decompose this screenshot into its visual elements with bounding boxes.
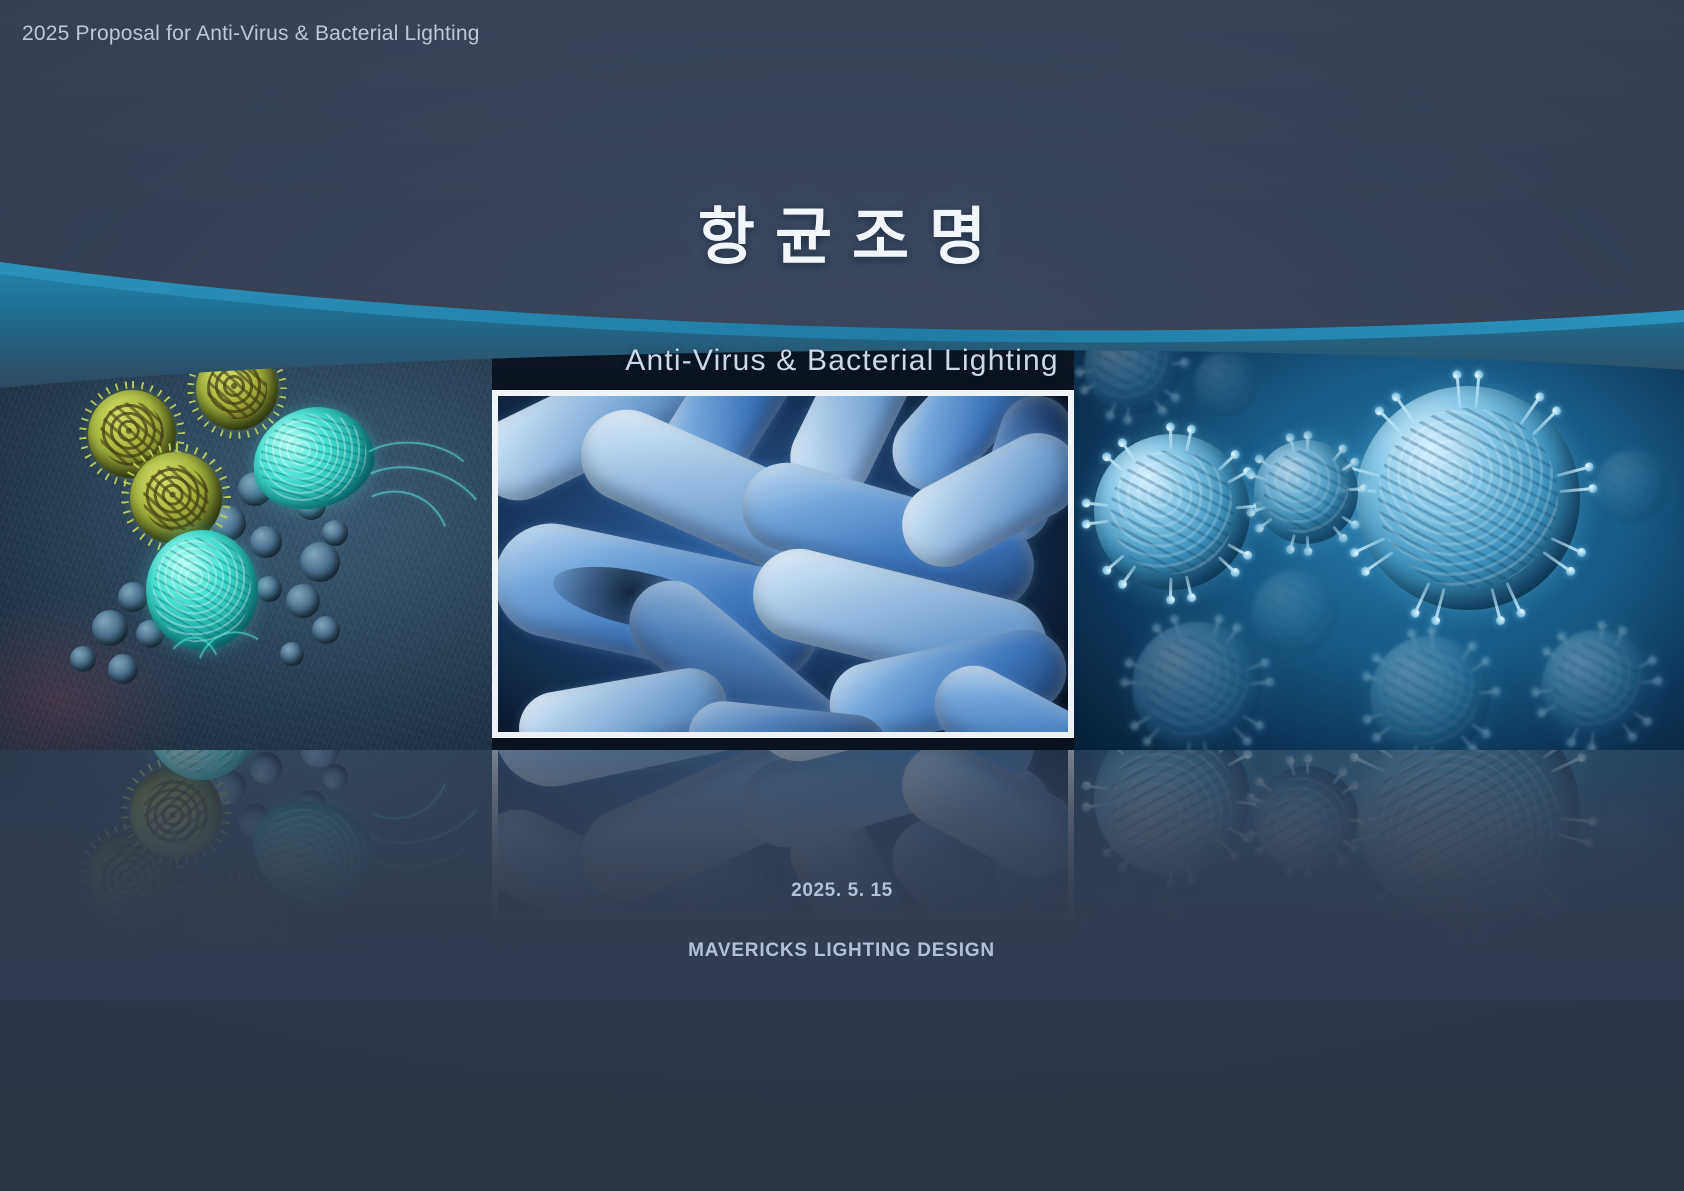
spike-proteins xyxy=(1094,434,1250,590)
virion-background xyxy=(1370,636,1490,750)
spike-protein xyxy=(1108,403,1117,417)
spike-protein xyxy=(1637,659,1653,669)
spike-protein xyxy=(1233,726,1249,742)
spike-protein xyxy=(1341,461,1356,472)
spike-protein xyxy=(1615,630,1625,646)
spike-proteins xyxy=(1132,622,1262,750)
bacterium-cyan xyxy=(146,750,258,780)
spike-protein xyxy=(1121,848,1137,869)
spike-protein xyxy=(1163,389,1177,400)
panel-macrophage-bacteria xyxy=(0,330,492,750)
spike-protein xyxy=(1343,817,1377,823)
spike-protein xyxy=(1078,369,1093,373)
header-proposal-title: 2025 Proposal for Anti-Virus & Bacterial… xyxy=(22,22,480,46)
spike-protein xyxy=(1105,750,1125,756)
spike-protein xyxy=(1250,829,1266,837)
main-title-korean: 항균조명 xyxy=(678,205,1006,270)
spike-protein xyxy=(1642,680,1659,684)
spike-protein xyxy=(1227,753,1249,767)
spike-protein xyxy=(1366,712,1384,721)
spike-protein xyxy=(1541,704,1557,714)
spike-protein xyxy=(1250,796,1266,804)
spike-protein xyxy=(1218,556,1237,574)
spike-protein xyxy=(1395,396,1417,425)
spike-protein xyxy=(1354,537,1386,554)
spike-protein xyxy=(1227,543,1249,557)
spike-proteins xyxy=(1254,766,1358,870)
spike-protein xyxy=(1556,833,1589,845)
spike-proteins xyxy=(1084,330,1180,414)
spike-protein xyxy=(1430,630,1434,648)
panel-rod-bacteria xyxy=(492,330,1074,750)
virion-background xyxy=(1132,622,1262,750)
spike-protein xyxy=(1124,681,1144,686)
spike-protein xyxy=(1590,731,1594,748)
spike-protein xyxy=(1532,410,1558,436)
spike-protein xyxy=(1121,565,1137,586)
spike-protein xyxy=(1185,858,1193,881)
spike-protein xyxy=(1410,632,1418,650)
virion-blurred xyxy=(1594,450,1668,524)
spike-protein xyxy=(1236,801,1260,806)
spike-protein xyxy=(1289,534,1296,550)
spike-protein xyxy=(1519,396,1541,425)
spike-protein xyxy=(1258,518,1272,530)
spike-protein xyxy=(1203,741,1209,750)
spike-protein xyxy=(1169,426,1172,449)
virion-background xyxy=(1542,630,1652,740)
spike-protein xyxy=(1085,501,1109,507)
spike-protein xyxy=(1250,506,1266,514)
spike-protein xyxy=(1332,848,1344,862)
slide-footer: 2025. 5. 15 MAVERICKS LIGHTING DESIGN xyxy=(0,880,1684,962)
virus-particle-olive xyxy=(196,348,278,430)
spike-protein xyxy=(1460,645,1474,661)
spike-protein xyxy=(1559,817,1593,823)
title-area: 항균조명 xyxy=(0,205,1684,270)
spike-protein xyxy=(1471,660,1488,672)
spike-protein xyxy=(1348,819,1364,823)
spike-protein xyxy=(1147,330,1156,332)
virion-blurred xyxy=(1594,786,1668,860)
spike-protein xyxy=(1146,726,1162,742)
spike-proteins xyxy=(1094,750,1250,876)
spike-protein xyxy=(1289,437,1296,453)
slide-header: 2025 Proposal for Anti-Virus & Bacterial… xyxy=(22,22,480,46)
spike-protein xyxy=(1306,536,1310,552)
spike-protein xyxy=(1289,857,1296,873)
spike-protein xyxy=(1242,714,1260,727)
spike-protein xyxy=(1218,453,1237,471)
spike-protein xyxy=(1460,734,1474,750)
image-strip xyxy=(0,330,1684,750)
virion-background xyxy=(1084,330,1180,414)
spike-protein xyxy=(1306,435,1310,451)
spike-protein xyxy=(1551,756,1583,773)
spike-proteins xyxy=(1370,636,1490,750)
spike-protein xyxy=(1348,487,1364,491)
virion-small xyxy=(1254,766,1358,870)
virion-small xyxy=(1254,440,1358,544)
spike-protein xyxy=(1105,455,1125,473)
spike-proteins xyxy=(1542,630,1652,740)
virus-particle-olive xyxy=(130,766,222,858)
spike-protein xyxy=(1560,635,1572,650)
spike-protein xyxy=(1434,588,1446,621)
spike-protein xyxy=(1414,582,1431,614)
spike-protein xyxy=(1622,723,1634,738)
title-slide: 2025 Proposal for Anti-Virus & Bacterial… xyxy=(0,0,1684,1191)
spike-protein xyxy=(1100,330,1111,336)
spike-protein xyxy=(1085,803,1109,809)
spike-protein xyxy=(1173,619,1182,638)
spike-protein xyxy=(1083,383,1097,392)
spike-protein xyxy=(1169,577,1172,600)
virion-blurred xyxy=(1194,352,1258,416)
spike-protein xyxy=(1570,727,1580,743)
spike-protein xyxy=(1185,428,1193,451)
spike-protein xyxy=(1258,841,1272,853)
virion-blurred xyxy=(1252,570,1338,656)
spike-protein xyxy=(1100,974,1111,980)
panel-corona-virions xyxy=(1074,330,1684,750)
spike-protein xyxy=(1218,750,1237,754)
spike-protein xyxy=(1364,551,1393,573)
spike-protein xyxy=(1171,361,1186,365)
spike-protein xyxy=(1471,723,1488,735)
spike-protein xyxy=(1212,619,1221,638)
spike-protein xyxy=(1121,441,1137,462)
spike-protein xyxy=(1306,859,1310,875)
spike-protein xyxy=(1289,760,1296,776)
spike-protein xyxy=(1559,487,1593,493)
spike-protein xyxy=(1599,625,1603,642)
spike-protein xyxy=(1250,473,1266,481)
spike-protein xyxy=(1258,458,1272,470)
virion-medium xyxy=(1094,434,1250,590)
spike-protein xyxy=(1341,515,1356,526)
spike-proteins xyxy=(1356,386,1580,610)
spike-protein xyxy=(1227,826,1249,840)
spike-protein xyxy=(1306,758,1310,774)
spike-protein xyxy=(1105,554,1125,572)
spike-protein xyxy=(1185,575,1193,598)
spike-protein xyxy=(1354,756,1386,773)
spike-protein xyxy=(1536,689,1553,693)
presentation-date: 2025. 5. 15 xyxy=(0,880,1684,902)
spike-protein xyxy=(1546,650,1561,662)
spike-protein xyxy=(1250,681,1270,686)
virion-large xyxy=(1356,386,1580,610)
spike-protein xyxy=(1126,407,1130,422)
spike-protein xyxy=(1475,374,1481,408)
spike-protein xyxy=(1341,784,1356,795)
spike-protein xyxy=(1375,726,1391,739)
spike-protein xyxy=(1087,964,1101,975)
company-name: MAVERICKS LIGHTING DESIGN xyxy=(0,940,1684,962)
spike-protein xyxy=(1490,588,1502,621)
spike-protein xyxy=(1341,838,1356,849)
spike-protein xyxy=(1128,661,1147,671)
spike-protein xyxy=(1542,750,1571,759)
spike-protein xyxy=(1542,551,1571,573)
spike-protein xyxy=(1105,837,1125,855)
photo-frame xyxy=(492,390,1074,738)
reflection-fade xyxy=(0,750,1684,1000)
spike-protein xyxy=(1332,525,1344,539)
spike-protein xyxy=(1410,744,1418,750)
spike-protein xyxy=(1246,661,1265,671)
spike-protein xyxy=(1186,741,1192,750)
spike-protein xyxy=(1479,690,1497,695)
spike-protein xyxy=(1147,978,1156,980)
spike-protein xyxy=(1505,582,1522,614)
spike-protein xyxy=(1167,343,1181,352)
spike-protein xyxy=(1430,747,1434,750)
spike-protein xyxy=(1155,627,1168,645)
spike-protein xyxy=(1087,335,1101,346)
spike-protein xyxy=(1366,674,1384,683)
spike-protein xyxy=(1456,374,1462,408)
spike-protein xyxy=(1332,771,1344,785)
spike-protein xyxy=(1225,627,1238,645)
spike-proteins xyxy=(1254,440,1358,544)
spike-protein xyxy=(1346,833,1379,845)
spike-protein xyxy=(1364,750,1393,759)
virion-medium xyxy=(1094,750,1250,876)
spike-protein xyxy=(1085,784,1109,790)
spike-protein xyxy=(1378,410,1404,436)
spike-protein xyxy=(1134,714,1152,727)
spike-protein xyxy=(1556,466,1589,478)
spike-protein xyxy=(1633,711,1648,723)
spike-protein xyxy=(1153,399,1164,413)
spike-protein xyxy=(1218,839,1237,857)
spike-protein xyxy=(1551,537,1583,554)
spike-protein xyxy=(1085,520,1109,526)
spike-protein xyxy=(1332,448,1344,462)
rod-bacteria-photo xyxy=(498,396,1068,732)
spike-protein xyxy=(1258,781,1272,793)
spike-protein xyxy=(1375,656,1391,669)
